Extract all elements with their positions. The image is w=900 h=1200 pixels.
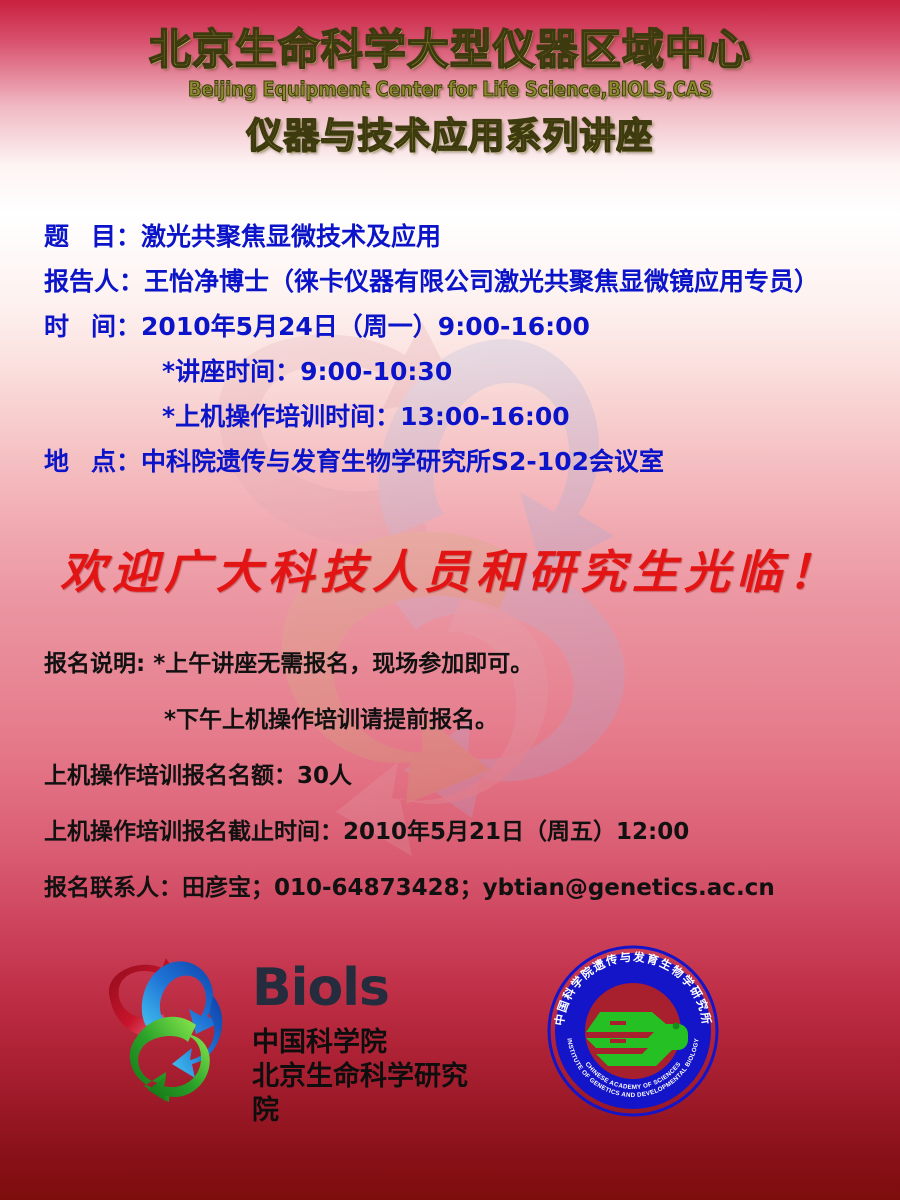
info-label-time-b: 间 bbox=[91, 312, 116, 341]
info-row-lecture-time: *讲座时间：9:00-10:30 bbox=[44, 349, 874, 394]
info-label-venue-a: 地 bbox=[44, 447, 69, 476]
info-label-time-a: 时 bbox=[44, 312, 69, 341]
info-row-training-time: *上机操作培训时间：13:00-16:00 bbox=[44, 394, 874, 439]
biols-swirl-icon bbox=[92, 952, 242, 1102]
title-english: Beijing Equipment Center for Life Scienc… bbox=[14, 77, 887, 101]
biols-cn-line-1: 中国科学院 bbox=[252, 1026, 492, 1060]
info-label-topic-a: 题 bbox=[44, 222, 69, 251]
info-value-time: ：2010年5月24日（周一）9:00-16:00 bbox=[116, 312, 590, 341]
info-row-topic: 题目：激光共聚焦显微技术及应用 bbox=[44, 214, 874, 259]
lecture-info-block: 题目：激光共聚焦显微技术及应用 报告人：王怡净博士（徕卡仪器有限公司激光共聚焦显… bbox=[44, 214, 874, 484]
info-label-topic-b: 目 bbox=[91, 222, 116, 251]
genetics-institute-seal: 中国科学院遗传与发育生物学研究所 INSTITUTE OF GENETICS A… bbox=[540, 938, 726, 1124]
title-chinese: 北京生命科学大型仪器区域中心 bbox=[0, 26, 900, 73]
info-label-speaker: 报告人 bbox=[44, 267, 119, 296]
registration-note-1: 报名说明: *上午讲座无需报名，现场参加即可。 bbox=[44, 648, 884, 680]
info-row-speaker: 报告人：王怡净博士（徕卡仪器有限公司激光共聚焦显微镜应用专员） bbox=[44, 259, 874, 304]
biols-cn-line-2: 北京生命科学研究院 bbox=[252, 1060, 492, 1128]
biols-logo: Biols 中国科学院 北京生命科学研究院 bbox=[92, 950, 492, 1120]
info-row-venue: 地点：中科院遗传与发育生物学研究所S2-102会议室 bbox=[44, 439, 874, 484]
registration-block: 报名说明: *上午讲座无需报名，现场参加即可。 *下午上机操作培训请提前报名。 … bbox=[44, 648, 884, 904]
biols-wordmark: Biols bbox=[252, 958, 389, 1018]
info-value-venue: ：中科院遗传与发育生物学研究所S2-102会议室 bbox=[116, 447, 664, 476]
biols-chinese-name: 中国科学院 北京生命科学研究院 bbox=[252, 1026, 492, 1128]
info-value-speaker: ：王怡净博士（徕卡仪器有限公司激光共聚焦显微镜应用专员） bbox=[119, 267, 819, 296]
registration-quota: 上机操作培训报名名额：30人 bbox=[44, 760, 884, 792]
info-row-time: 时间：2010年5月24日（周一）9:00-16:00 bbox=[44, 304, 874, 349]
poster-header: 北京生命科学大型仪器区域中心 Beijing Equipment Center … bbox=[0, 26, 900, 159]
title-subtitle: 仪器与技术应用系列讲座 bbox=[0, 107, 900, 159]
poster-canvas: 北京生命科学大型仪器区域中心 Beijing Equipment Center … bbox=[0, 0, 900, 1200]
info-value-topic: ：激光共聚焦显微技术及应用 bbox=[116, 222, 441, 251]
registration-contact: 报名联系人：田彦宝；010-64873428；ybtian@genetics.a… bbox=[44, 872, 884, 904]
registration-deadline: 上机操作培训报名截止时间：2010年5月21日（周五）12:00 bbox=[44, 816, 884, 848]
info-label-venue-b: 点 bbox=[91, 447, 116, 476]
welcome-banner: 欢迎广大科技人员和研究生光临！ bbox=[0, 536, 900, 602]
registration-note-2: *下午上机操作培训请提前报名。 bbox=[44, 704, 884, 736]
